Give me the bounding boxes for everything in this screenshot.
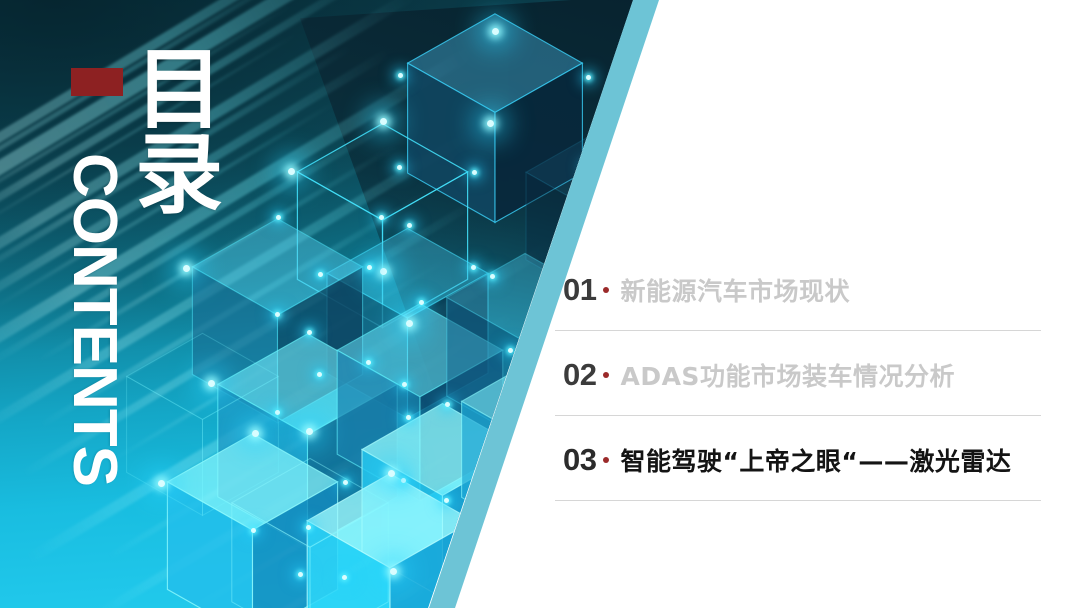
glow-node: [490, 274, 495, 279]
glow-node: [487, 120, 494, 127]
toc-number: 01: [563, 272, 596, 308]
glow-node: [401, 478, 406, 483]
toc-label: 智能驾驶“上帝之眼“——激光雷达: [620, 442, 1011, 478]
bullet-dot-icon: [603, 457, 609, 463]
glow-node: [472, 170, 477, 175]
glow-node: [402, 382, 407, 387]
toc-row: 02ADAS功能市场装车情况分析: [563, 357, 1043, 412]
toc-divider: [555, 500, 1041, 501]
toc-number: 03: [563, 442, 596, 478]
glow-node: [318, 272, 323, 277]
toc-item-01[interactable]: 01新能源汽车市场现状: [563, 272, 1043, 357]
glow-node: [586, 75, 591, 80]
toc-label: ADAS功能市场装车情况分析: [620, 357, 954, 393]
table-of-contents: 01新能源汽车市场现状02ADAS功能市场装车情况分析03智能驾驶“上帝之眼“—…: [563, 272, 1043, 527]
bullet-dot-icon: [603, 287, 609, 293]
glow-node: [275, 312, 280, 317]
toc-divider: [555, 330, 1041, 331]
glow-node: [367, 265, 372, 270]
glow-node: [471, 265, 476, 270]
glow-node: [366, 360, 371, 365]
glow-node: [406, 415, 411, 420]
glow-node: [492, 28, 499, 35]
contents-slide: 目录 CONTENTS 01新能源汽车市场现状02ADAS功能市场装车情况分析0…: [0, 0, 1080, 608]
glow-node: [307, 330, 312, 335]
glow-node: [379, 215, 384, 220]
glow-node: [406, 320, 413, 327]
glow-node: [275, 410, 280, 415]
glow-node: [398, 73, 403, 78]
toc-item-02[interactable]: 02ADAS功能市场装车情况分析: [563, 357, 1043, 442]
red-accent-block: [71, 68, 123, 96]
glow-node: [407, 223, 412, 228]
toc-row: 03智能驾驶“上帝之眼“——激光雷达: [563, 442, 1043, 497]
glow-node: [444, 498, 449, 503]
page-title-cn: 目录: [131, 47, 227, 218]
glow-node: [508, 348, 513, 353]
glow-node: [536, 450, 541, 455]
toc-item-03[interactable]: 03智能驾驶“上帝之眼“——激光雷达: [563, 442, 1043, 527]
glow-node: [388, 470, 395, 477]
glow-node: [342, 575, 347, 580]
glow-node: [380, 118, 387, 125]
page-title-en: CONTENTS: [63, 153, 125, 473]
glow-node: [276, 215, 281, 220]
bullet-dot-icon: [603, 372, 609, 378]
glow-node: [380, 268, 387, 275]
glow-node: [397, 165, 402, 170]
glow-node: [343, 480, 348, 485]
glow-node: [317, 372, 322, 377]
toc-row: 01新能源汽车市场现状: [563, 272, 1043, 327]
toc-label: 新能源汽车市场现状: [620, 272, 850, 308]
glow-node: [390, 568, 397, 575]
glow-node: [288, 168, 295, 175]
glow-node: [419, 300, 424, 305]
toc-divider: [555, 415, 1041, 416]
toc-number: 02: [563, 357, 596, 393]
glow-node: [306, 428, 313, 435]
glow-node: [306, 525, 311, 530]
title-block: 目录 CONTENTS: [0, 0, 260, 608]
glow-node: [298, 572, 303, 577]
glow-node: [445, 402, 450, 407]
